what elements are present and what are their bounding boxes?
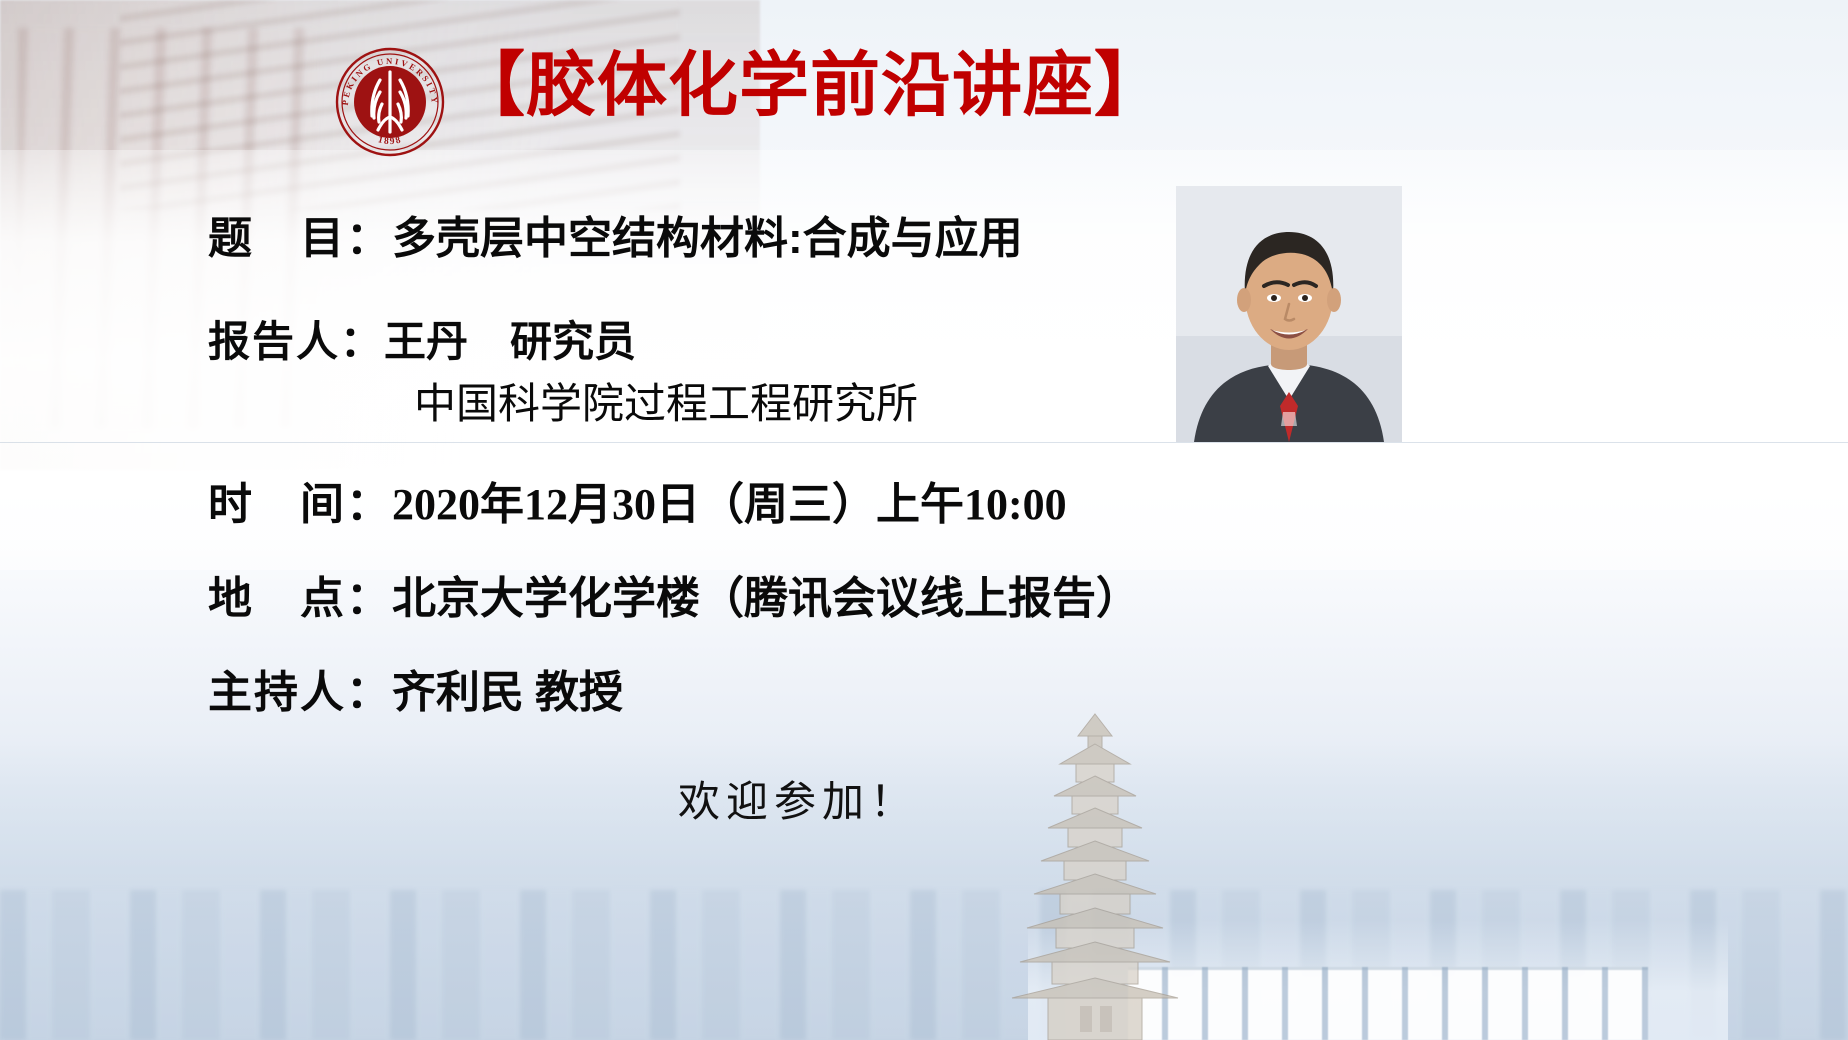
time-label: 时 间： xyxy=(208,468,392,532)
welcome-message: 欢迎参加！ xyxy=(678,768,918,829)
page-title: 【胶体化学前沿讲座】 xyxy=(455,52,1165,122)
row-host: 主持人： 齐利民 教授 xyxy=(208,656,623,720)
row-place: 地 点： 北京大学化学楼（腾讯会议线上报告） xyxy=(208,562,1140,626)
row-time: 时 间： 2020年12月30日（周三）上午10:00 xyxy=(208,468,1067,532)
host-value: 齐利民 教授 xyxy=(392,656,623,720)
time-value: 2020年12月30日（周三）上午10:00 xyxy=(392,468,1067,532)
speaker-photo xyxy=(1176,186,1402,442)
speaker-value: 王丹 研究员 xyxy=(384,308,636,369)
seminar-poster: PEKING UNIVERSITY 1898 【胶体化学前沿讲座】 xyxy=(0,0,1848,1040)
affiliation-value: 中国科学院过程工程研究所 xyxy=(414,370,918,431)
topic-value: 多壳层中空结构材料:合成与应用 xyxy=(392,202,1023,266)
topic-label: 题 目： xyxy=(208,202,392,266)
boya-pagoda-image xyxy=(1000,710,1190,1040)
row-topic: 题 目： 多壳层中空结构材料:合成与应用 xyxy=(208,202,1023,266)
place-label: 地 点： xyxy=(208,562,392,626)
host-label: 主持人： xyxy=(208,656,392,720)
speaker-label: 报告人： xyxy=(208,308,384,369)
background-seam-line xyxy=(0,442,1848,443)
place-value: 北京大学化学楼（腾讯会议线上报告） xyxy=(392,562,1140,626)
row-speaker: 报告人： 王丹 研究员 xyxy=(208,308,636,369)
row-affiliation: 中国科学院过程工程研究所 xyxy=(414,370,918,431)
peking-university-seal-icon: PEKING UNIVERSITY 1898 xyxy=(334,46,446,158)
